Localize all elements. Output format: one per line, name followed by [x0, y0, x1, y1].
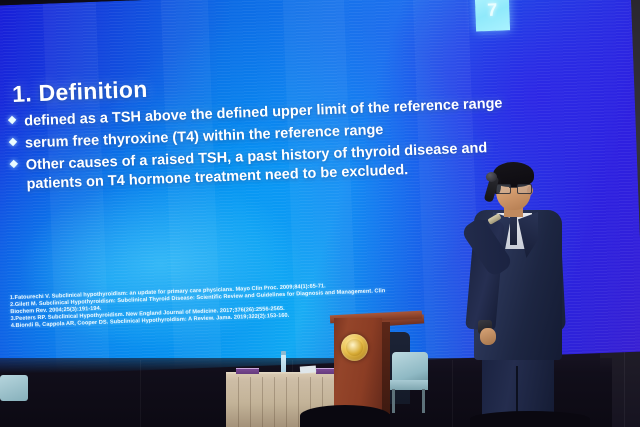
water-bottle — [281, 354, 286, 374]
diamond-bullet-icon — [9, 138, 17, 146]
audience-silhouette — [470, 411, 590, 427]
diamond-bullet-icon — [8, 116, 16, 124]
chair-left — [0, 375, 28, 401]
audience-silhouette — [300, 405, 390, 427]
podium-seal-inner — [346, 339, 363, 356]
bottle-cap — [281, 351, 286, 355]
speaker-hand-right — [480, 328, 496, 345]
speaker-hand — [486, 196, 502, 216]
papers — [300, 365, 316, 373]
diamond-bullet-icon — [10, 160, 18, 168]
speaker-person — [460, 160, 600, 427]
glasses-icon — [496, 184, 530, 192]
microphone-head — [486, 172, 497, 182]
chair-right — [392, 352, 428, 382]
speaker-tie — [510, 215, 517, 245]
photo-scene: 7 1. Definition defined as a TSH above t… — [0, 0, 640, 427]
slide-title: 1. Definition — [12, 76, 148, 108]
slide-number-badge: 7 — [475, 0, 511, 31]
